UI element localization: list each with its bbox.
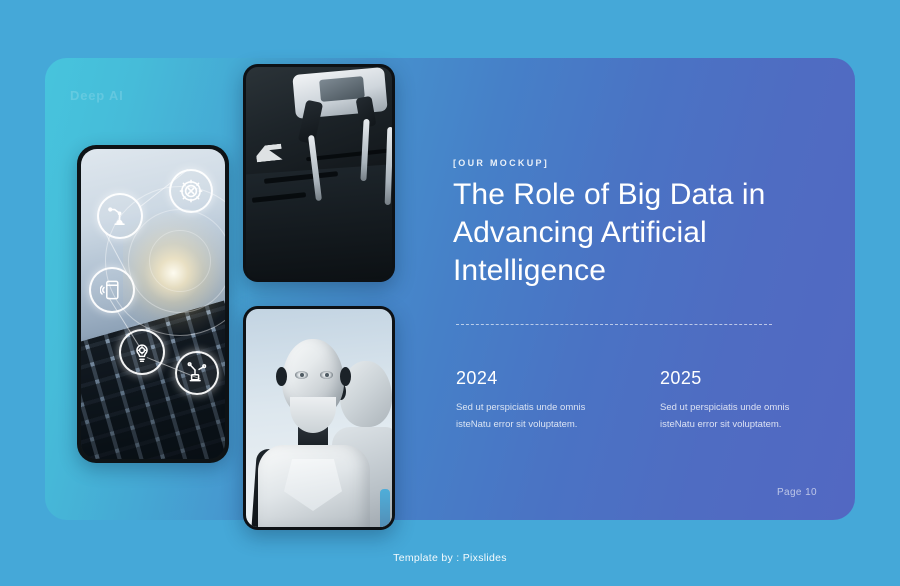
stat-year: 2025 — [660, 368, 810, 389]
stat-item: 2024 Sed ut perspiciatis unde omnis iste… — [456, 368, 606, 433]
industrial-robot-icon — [175, 351, 219, 395]
robot-arm-icon — [97, 193, 143, 239]
decorative-ring-inner — [149, 230, 211, 292]
stats-group: 2024 Sed ut perspiciatis unde omnis iste… — [456, 368, 816, 433]
page-number: Page 10 — [777, 487, 817, 498]
stat-description: Sed ut perspiciatis unde omnis isteNatu … — [660, 399, 810, 433]
stat-description: Sed ut perspiciatis unde omnis isteNatu … — [456, 399, 606, 433]
photo-card-android — [243, 306, 395, 530]
mobile-device-icon — [89, 267, 135, 313]
robot-dog-photo — [246, 67, 392, 279]
text-column: [OUR MOCKUP] The Role of Big Data in Adv… — [453, 58, 853, 520]
slide-inner: Deep AI — [45, 58, 855, 520]
watermark-text: Deep AI — [70, 88, 124, 103]
page-title: The Role of Big Data in Advancing Artifi… — [453, 176, 813, 290]
footer-credit: Template by : Pixslides — [0, 552, 900, 564]
lightbulb-gear-icon — [119, 329, 165, 375]
android-ear — [340, 367, 351, 386]
phone-mockup — [77, 145, 229, 463]
android-pupil — [300, 373, 304, 377]
android-robot-photo — [246, 309, 392, 527]
dashed-divider — [456, 324, 772, 325]
phone-screen — [81, 149, 225, 459]
gear-wrench-icon — [169, 169, 213, 213]
photo-card-robot-dog — [243, 64, 395, 282]
stat-year: 2024 — [456, 368, 606, 389]
android-ear — [276, 367, 287, 386]
stat-item: 2025 Sed ut perspiciatis unde omnis iste… — [660, 368, 810, 433]
eyebrow-label: [OUR MOCKUP] — [453, 158, 549, 168]
android-pupil — [325, 373, 329, 377]
slide-card: Deep AI — [45, 58, 855, 520]
accent-light — [380, 489, 390, 527]
